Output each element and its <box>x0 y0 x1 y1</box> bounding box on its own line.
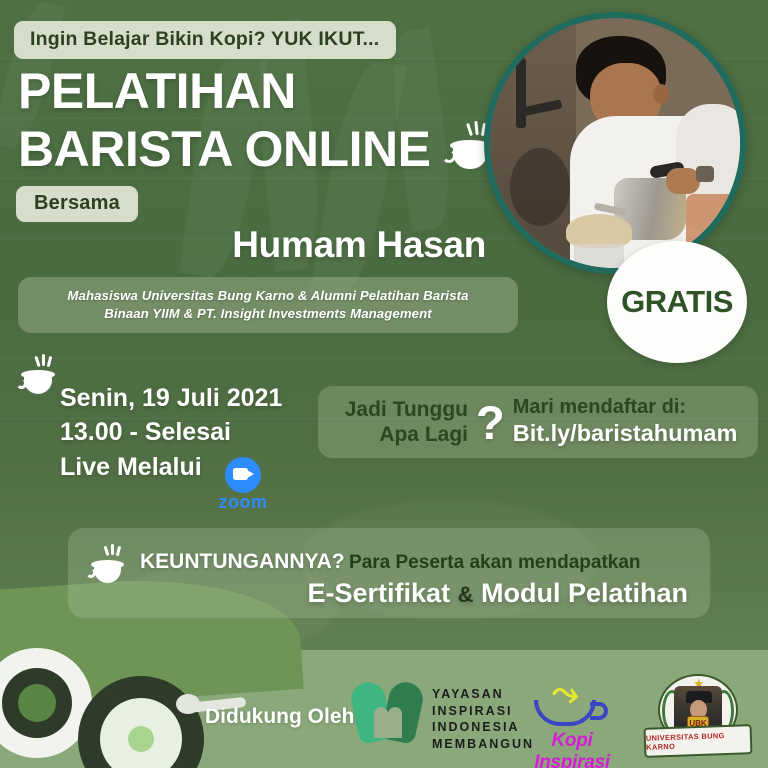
photo-ear <box>653 84 669 104</box>
photo-watch <box>696 166 714 182</box>
tagline-pill: Ingin Belajar Bikin Kopi? YUK IKUT... <box>14 21 396 59</box>
register-prompt-line1: Jadi Tunggu <box>326 397 468 422</box>
photo-pipe <box>516 58 526 128</box>
register-prompt: Jadi Tunggu Apa Lagi <box>326 397 468 447</box>
speaker-credentials: Mahasiswa Universitas Bung Karno & Alumn… <box>18 277 518 333</box>
register-link[interactable]: Bit.ly/baristahumam <box>513 420 738 448</box>
coffee-cup-handle-icon <box>590 702 608 720</box>
register-cta: Mari mendaftar di: Bit.ly/baristahumam <box>513 396 738 447</box>
benefit-item-2: Modul Pelatihan <box>481 578 688 608</box>
sponsor-logo-ubk: ★ UBK UNIVERSITAS BUNG KARNO <box>644 672 752 764</box>
benefits-items: E-Sertifikat & Modul Pelatihan <box>308 578 688 609</box>
ubk-ribbon-text: UNIVERSITAS BUNG KARNO <box>646 730 751 752</box>
heart-icon <box>374 712 402 738</box>
photo-wall-left <box>490 18 576 268</box>
coffee-cup-icon <box>16 356 62 402</box>
benefits-panel: KEUNTUNGANNYA? Para Peserta akan mendapa… <box>68 528 710 618</box>
free-badge: GRATIS <box>607 241 747 363</box>
coffee-cup-icon <box>86 547 130 589</box>
kopi-inspirasi-wordmark: Kopi Inspirasi <box>512 730 632 768</box>
poster-root: Ingin Belajar Bikin Kopi? YUK IKUT... PE… <box>0 0 768 768</box>
photo-shadow <box>510 148 570 226</box>
register-prompt-line2: Apa Lagi <box>326 422 468 447</box>
benefits-subheading: Para Peserta akan mendapatkan <box>349 552 641 573</box>
free-badge-label: GRATIS <box>621 284 733 320</box>
question-mark-icon: ? <box>476 399 505 446</box>
coffee-cup-illustration <box>128 726 154 752</box>
page-title-line2-wrap: BARISTA ONLINE <box>18 124 496 174</box>
photo-hand <box>666 168 700 194</box>
coffee-cup-illustration <box>18 684 56 722</box>
register-cta-label: Mari mendaftar di: <box>513 396 738 420</box>
benefits-separator: & <box>458 582 474 607</box>
photo-dripper <box>566 214 632 248</box>
page-title-line2: BARISTA ONLINE <box>18 124 430 174</box>
speaker-photo <box>484 12 746 274</box>
zoom-wordmark: zoom <box>207 492 279 513</box>
sponsor-logo-kopi-inspirasi: ⤳ Kopi Inspirasi <box>512 672 632 758</box>
zoom-camera-lens-icon <box>247 470 254 478</box>
benefits-heading-row: KEUNTUNGANNYA? Para Peserta akan mendapa… <box>140 550 641 574</box>
credentials-line-1: Mahasiswa Universitas Bung Karno & Alumn… <box>32 287 504 305</box>
bersama-pill: Bersama <box>16 186 138 222</box>
page-title-line1: PELATIHAN <box>18 66 296 116</box>
schedule-date: Senin, 19 Juli 2021 <box>60 381 282 415</box>
zoom-camera-body-icon <box>233 468 248 480</box>
ubk-ribbon: UNIVERSITAS BUNG KARNO <box>644 724 753 758</box>
spoon-illustration <box>176 694 200 714</box>
hands-heart-icon <box>352 682 426 752</box>
credentials-line-2: Binaan YIIM & PT. Insight Investments Ma… <box>32 305 504 323</box>
benefit-item-1: E-Sertifikat <box>308 578 451 608</box>
speaker-name: Humam Hasan <box>232 224 486 266</box>
zoom-logo: zoom <box>207 457 279 509</box>
supported-by-label: Didukung Oleh: <box>205 705 361 729</box>
schedule-time: 13.00 - Selesai <box>60 415 282 449</box>
coffee-cup-outline-icon <box>534 700 596 726</box>
register-panel: Jadi Tunggu Apa Lagi ? Mari mendaftar di… <box>318 386 758 458</box>
benefits-heading: KEUNTUNGANNYA? <box>140 550 345 573</box>
